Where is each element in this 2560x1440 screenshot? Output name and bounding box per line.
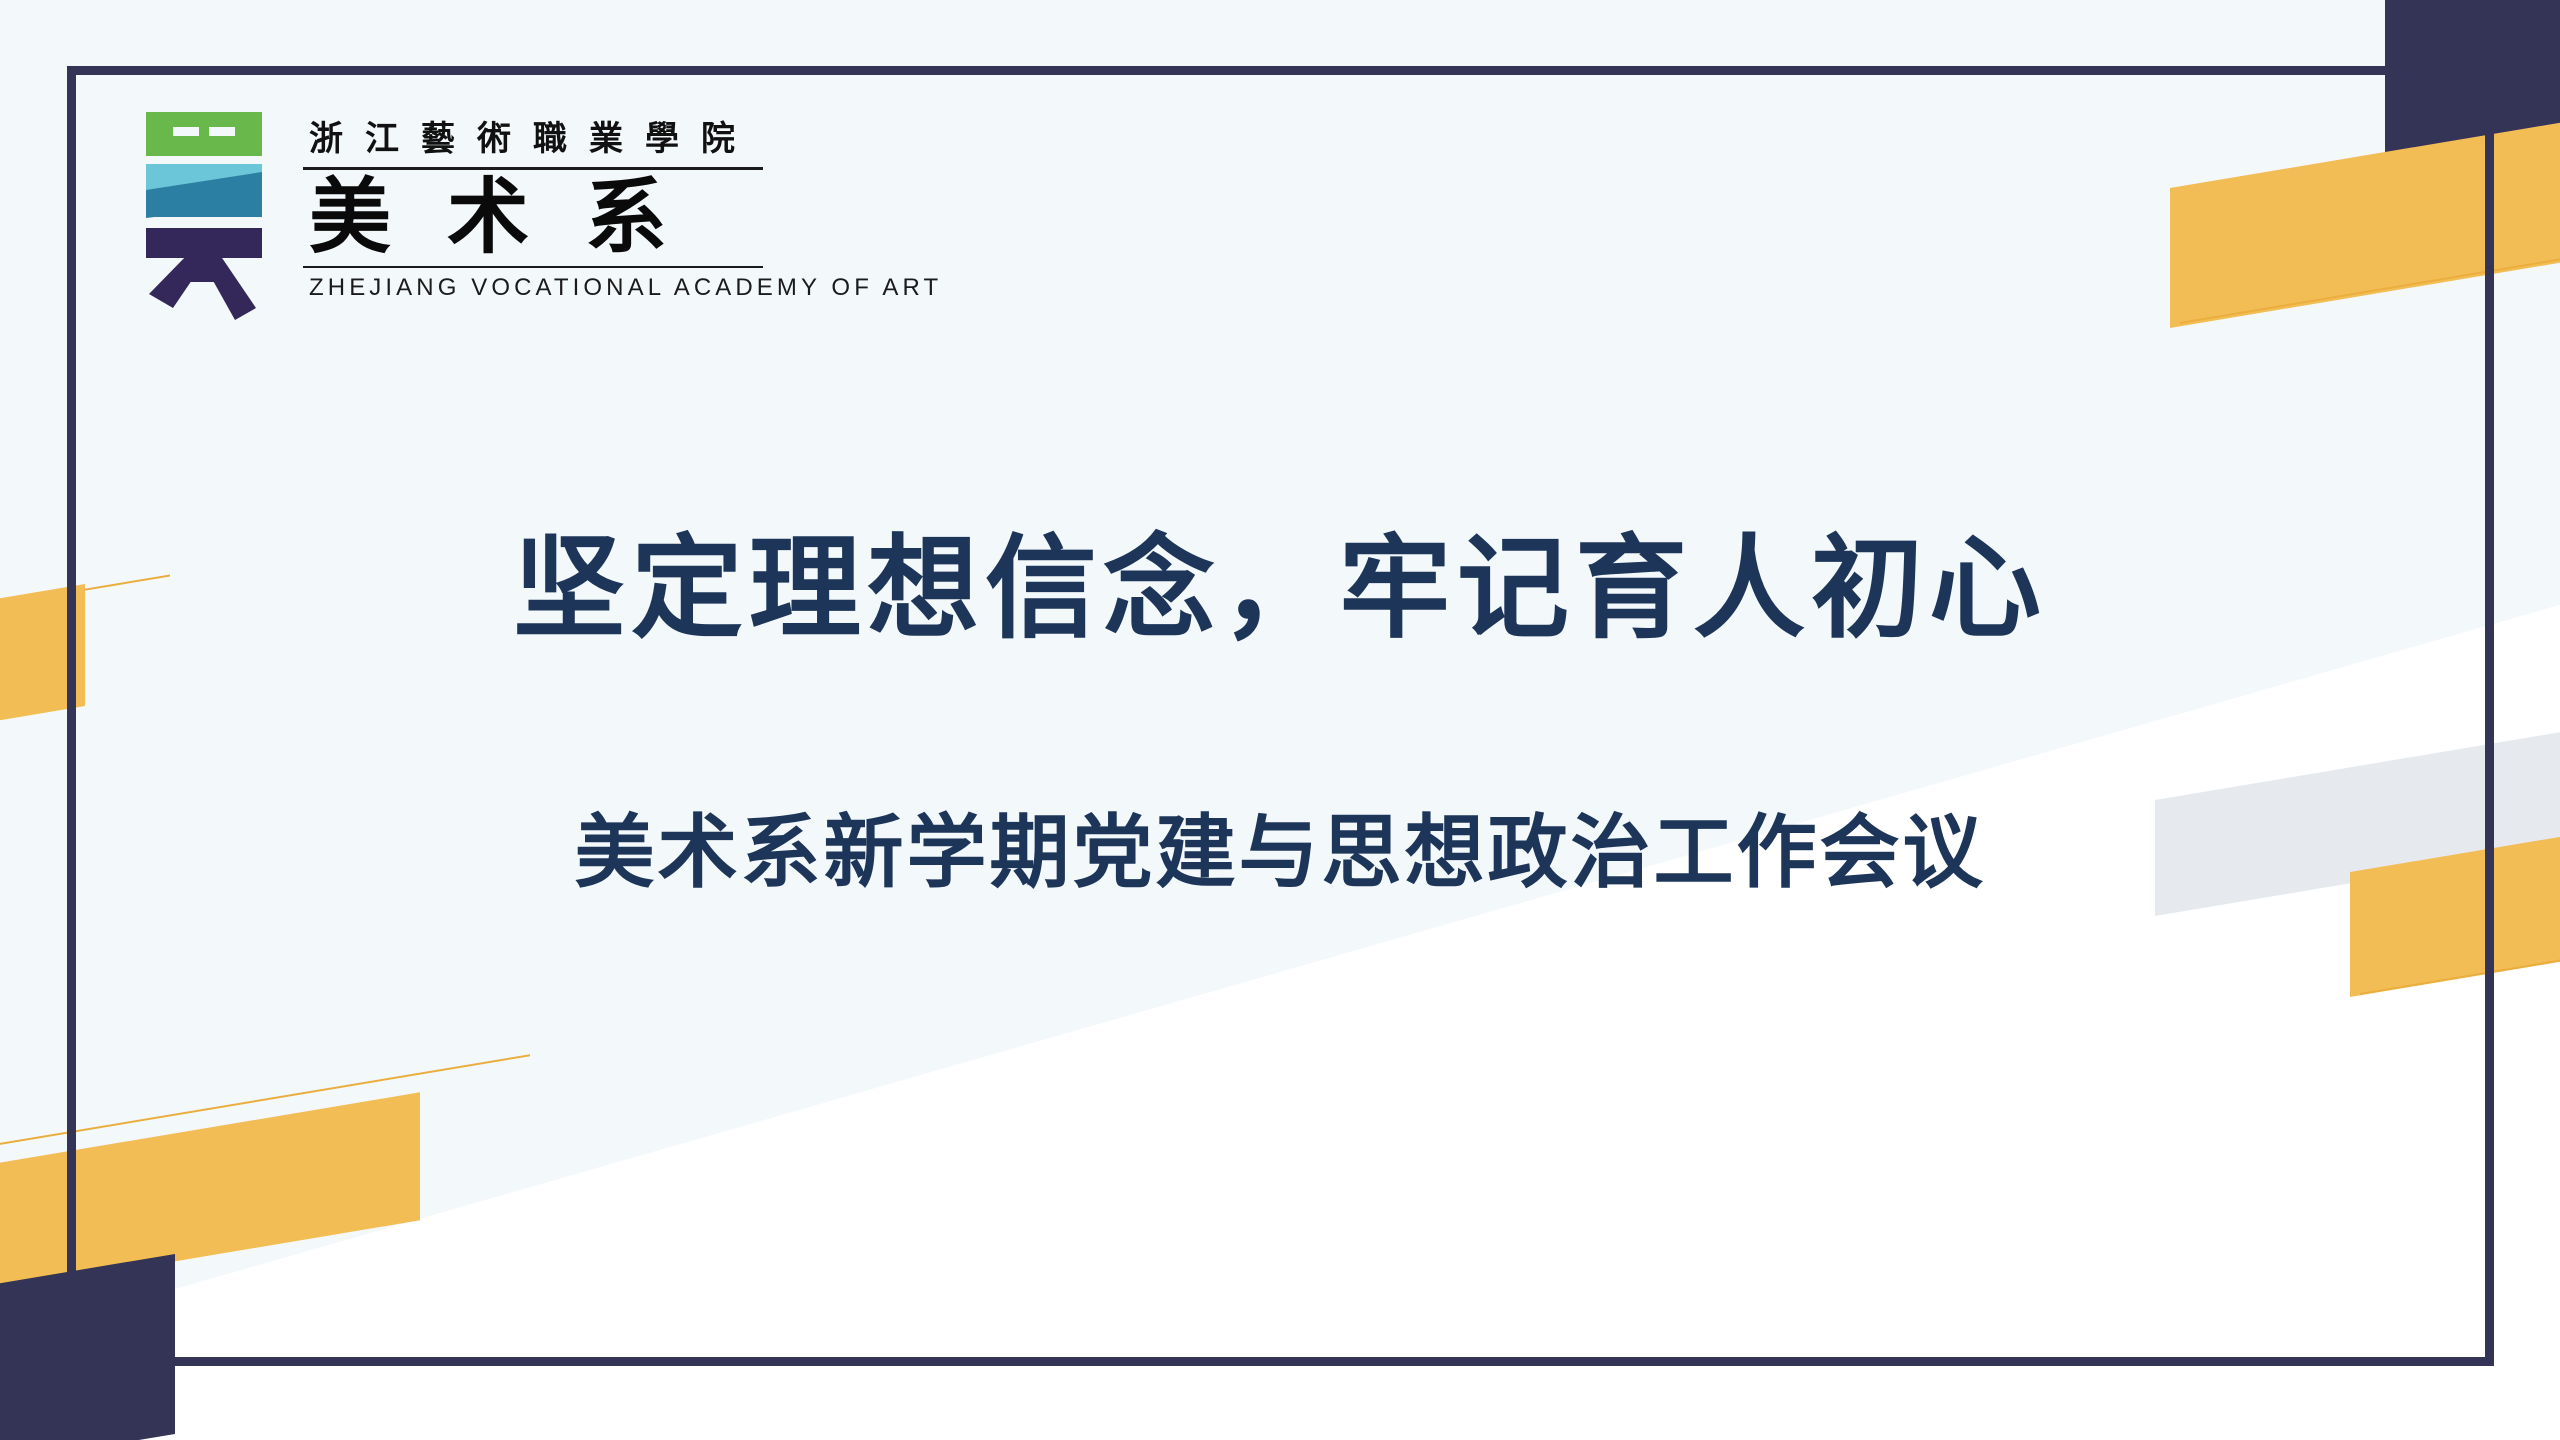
academy-name-en: ZHEJIANG VOCATIONAL ACADEMY OF ART: [303, 274, 942, 302]
academy-name-cn: 浙江藝術職業學院: [303, 120, 942, 159]
logo-divider-top: [303, 167, 763, 170]
logo-divider-bottom: [303, 266, 763, 268]
academy-logo-mark-icon: [143, 112, 265, 334]
presentation-slide: 浙江藝術職業學院 美术系 ZHEJIANG VOCATIONAL ACADEMY…: [0, 0, 2560, 1440]
department-name-cn: 美术系: [303, 172, 942, 264]
academy-logo: 浙江藝術職業學院 美术系 ZHEJIANG VOCATIONAL ACADEMY…: [143, 112, 942, 334]
academy-logo-text: 浙江藝術職業學院 美术系 ZHEJIANG VOCATIONAL ACADEMY…: [303, 112, 942, 302]
